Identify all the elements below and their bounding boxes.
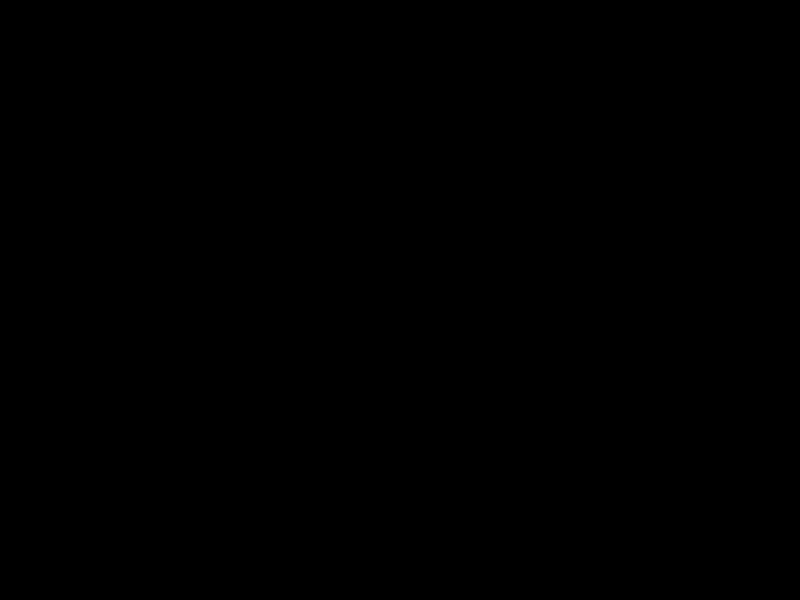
video-frame bbox=[0, 0, 800, 600]
